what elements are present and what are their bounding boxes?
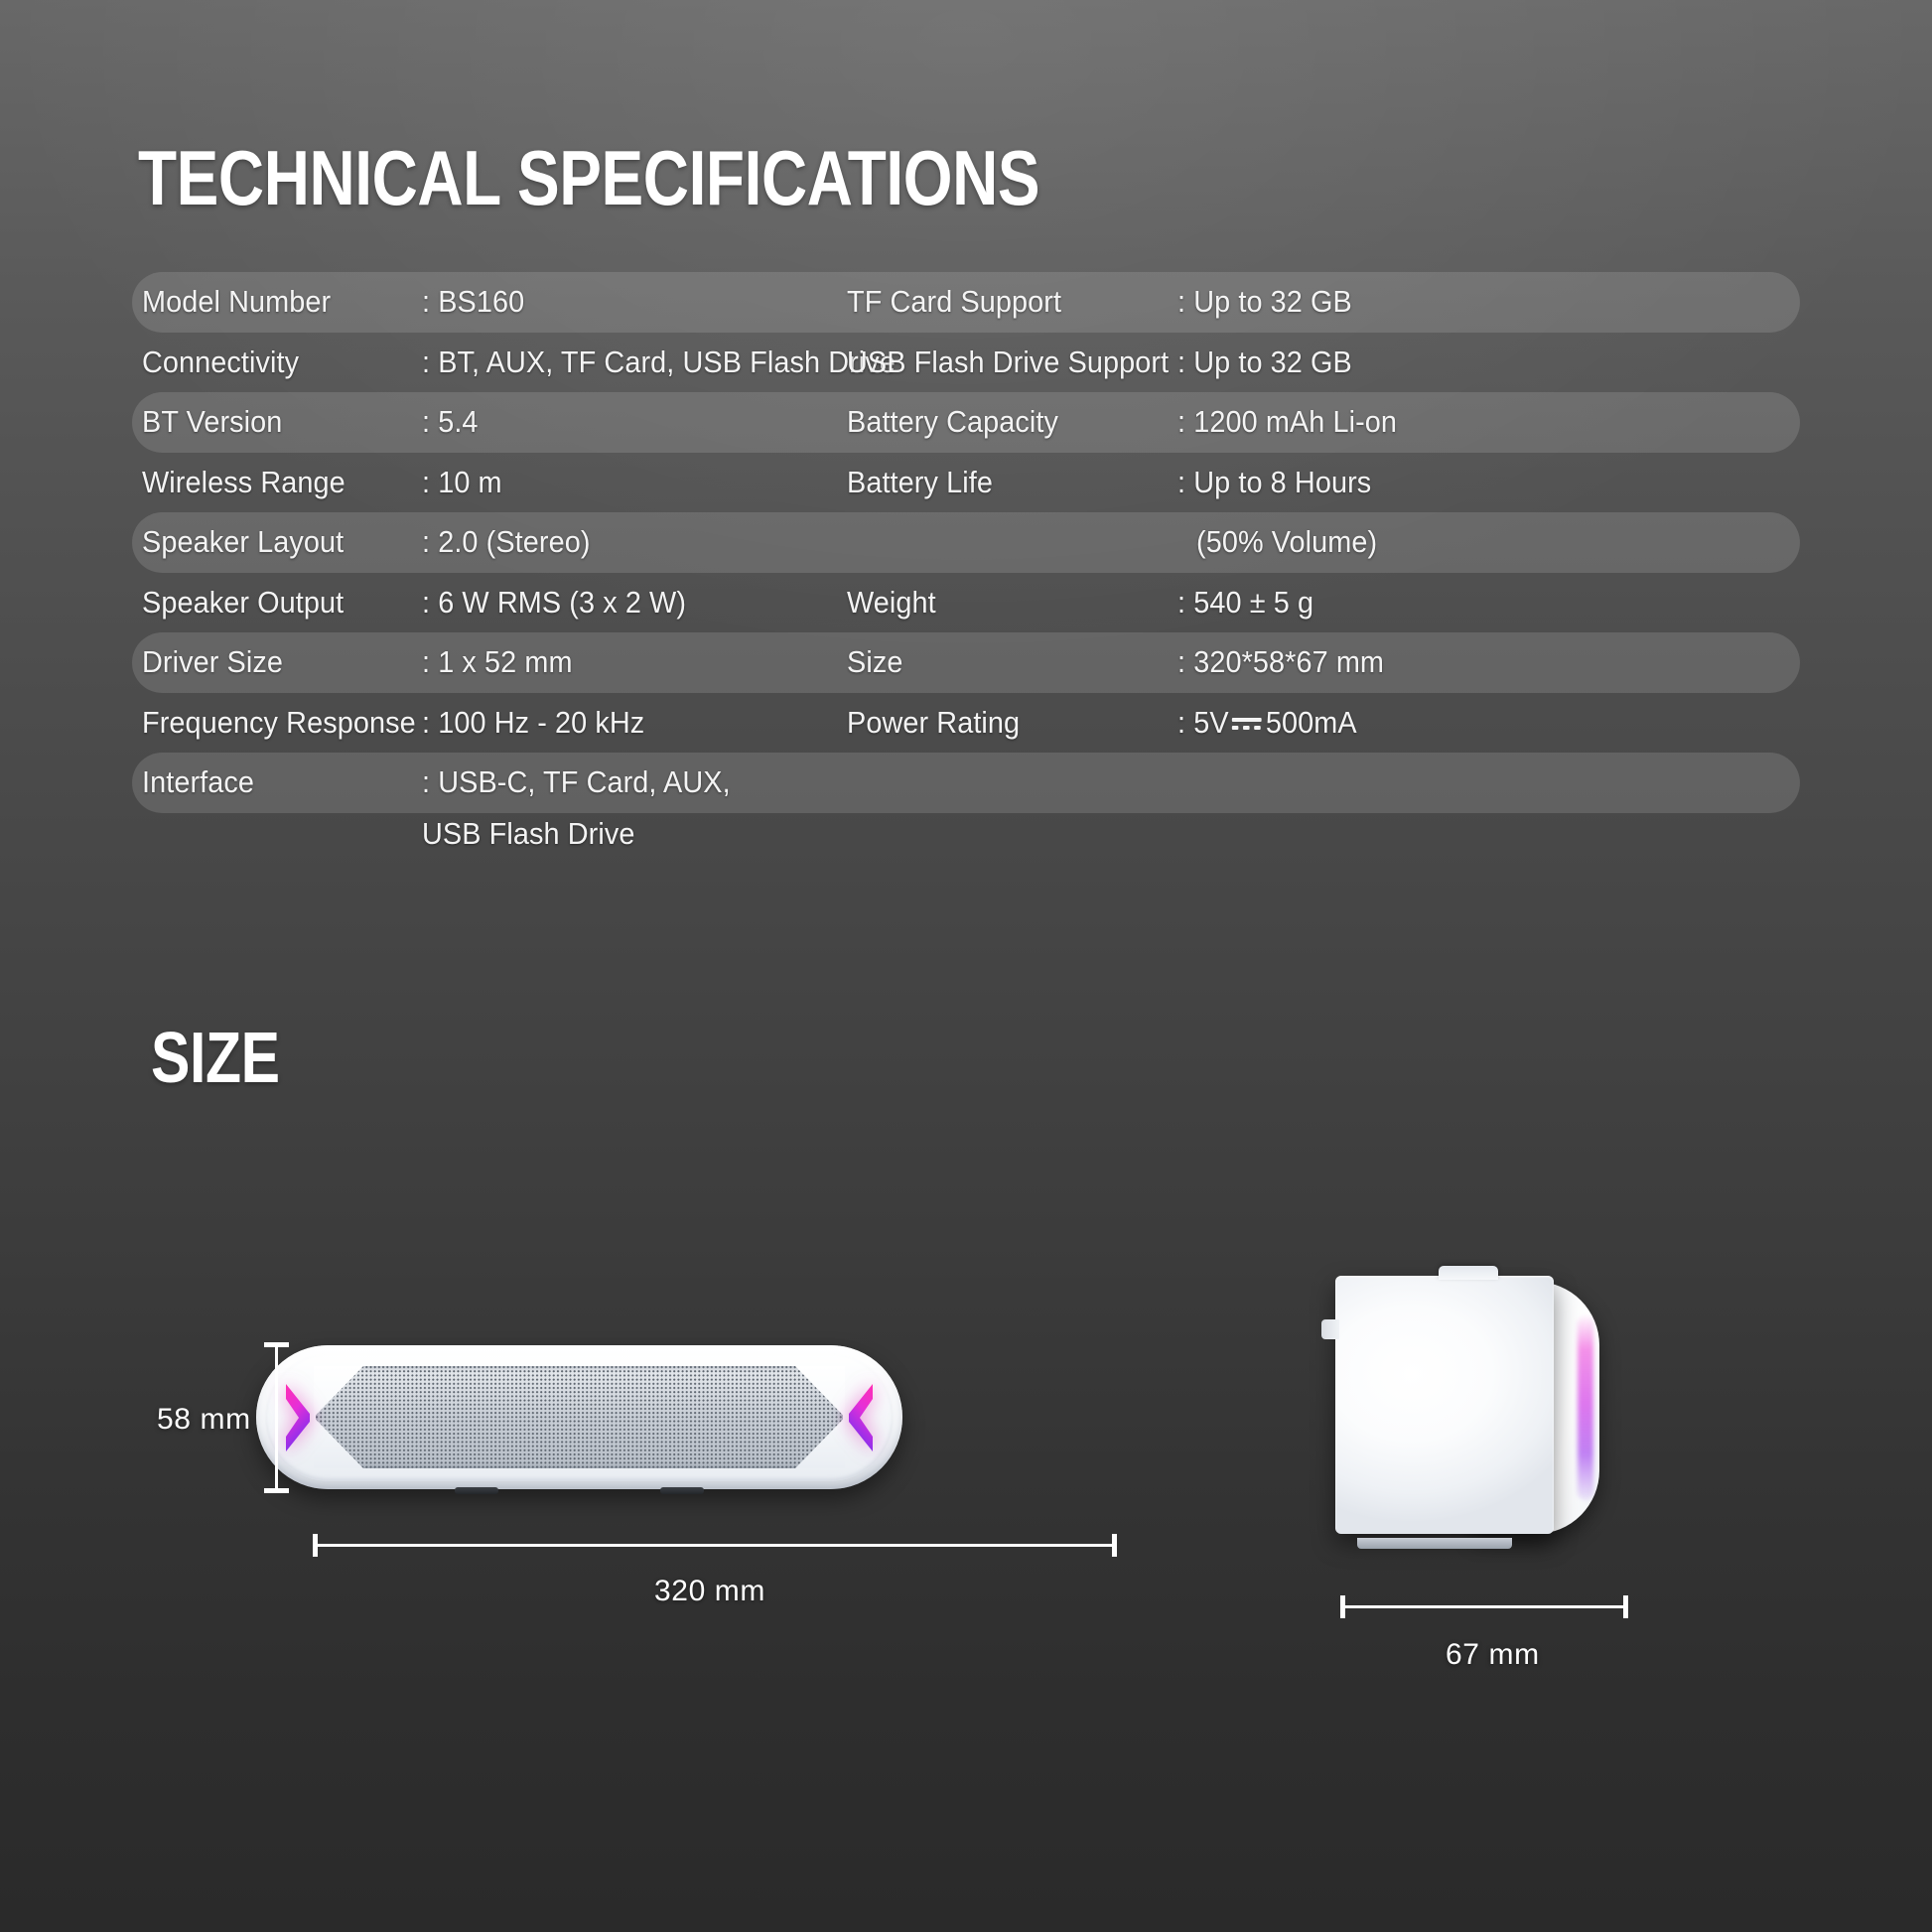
dc-symbol-icon — [1231, 714, 1263, 734]
spec-value-right: : 1200 mAh Li-on — [1177, 392, 1397, 453]
speaker-foot-right — [660, 1487, 704, 1494]
spec-label-right: USB Flash Drive Support — [847, 333, 1169, 393]
dimension-line-width — [313, 1544, 1117, 1547]
spec-label-left: Speaker Layout — [142, 512, 344, 573]
speaker-foot-left — [455, 1487, 498, 1494]
speaker-side-view-image — [1335, 1276, 1607, 1540]
dimension-cap-depth-left — [1340, 1595, 1345, 1618]
spec-value-left: : BS160 — [422, 272, 524, 333]
spec-value-continuation: USB Flash Drive — [422, 804, 634, 864]
table-row: Wireless Range : 10 m Battery Life : Up … — [132, 453, 1800, 513]
dimension-cap-height-bottom — [264, 1488, 289, 1493]
dimension-line-depth — [1340, 1605, 1628, 1608]
speaker-side-top-tab — [1439, 1266, 1498, 1280]
size-section-title: SIZE — [151, 1021, 280, 1096]
spec-value-left: : 2.0 (Stereo) — [422, 512, 591, 573]
spec-value-left: : BT, AUX, TF Card, USB Flash Drive — [422, 333, 896, 393]
table-row: Driver Size : 1 x 52 mm Size : 320*58*67… — [132, 632, 1800, 693]
speaker-side-front-face — [1335, 1276, 1554, 1534]
product-spec-sheet: TECHNICAL SPECIFICATIONS Model Number : … — [0, 0, 1932, 1932]
speaker-side-foot — [1357, 1538, 1512, 1549]
dimension-label-height: 58 mm — [157, 1403, 251, 1437]
power-rating-suffix: 500mA — [1266, 705, 1357, 740]
spec-value-right: : Up to 32 GB — [1177, 333, 1352, 393]
speaker-front-view-image — [256, 1345, 902, 1489]
table-row: Speaker Output : 6 W RMS (3 x 2 W) Weigh… — [132, 573, 1800, 633]
spec-value-left: : 5.4 — [422, 392, 479, 453]
rgb-chevron-light-right-icon — [843, 1381, 879, 1454]
spec-value-left: : 10 m — [422, 453, 502, 513]
spec-value-right: (50% Volume) — [1196, 512, 1377, 573]
spec-label-right: Weight — [847, 573, 936, 633]
dimension-cap-height-top — [264, 1342, 289, 1347]
dimension-line-height — [275, 1342, 278, 1493]
table-row: Model Number : BS160 TF Card Support : U… — [132, 272, 1800, 333]
dimension-cap-width-left — [313, 1534, 318, 1557]
spec-value-right: : Up to 32 GB — [1177, 272, 1352, 333]
spec-label-left: BT Version — [142, 392, 282, 453]
spec-value-left: : 6 W RMS (3 x 2 W) — [422, 573, 686, 633]
spec-value-right: : 320*58*67 mm — [1177, 632, 1384, 693]
spec-value-right: : Up to 8 Hours — [1177, 453, 1371, 513]
speaker-grille — [316, 1366, 843, 1468]
table-row: BT Version : 5.4 Battery Capacity : 1200… — [132, 392, 1800, 453]
spec-label-right: Power Rating — [847, 693, 1020, 754]
page-title: TECHNICAL SPECIFICATIONS — [138, 137, 1039, 218]
power-rating-prefix: : 5V — [1177, 705, 1229, 740]
spec-label-left: Frequency Response — [142, 693, 416, 754]
spec-label-left: Speaker Output — [142, 573, 344, 633]
spec-label-left: Model Number — [142, 272, 331, 333]
spec-label-right: Battery Capacity — [847, 392, 1058, 453]
spec-label-right: Battery Life — [847, 453, 993, 513]
table-row: Frequency Response : 100 Hz - 20 kHz Pow… — [132, 693, 1800, 754]
table-row: Speaker Layout : 2.0 (Stereo) (50% Volum… — [132, 512, 1800, 573]
spec-label-left: Driver Size — [142, 632, 283, 693]
spec-label-left: Connectivity — [142, 333, 299, 393]
spec-value-right: : 540 ± 5 g — [1177, 573, 1313, 633]
spec-label-right: TF Card Support — [847, 272, 1061, 333]
table-row: Connectivity : BT, AUX, TF Card, USB Fla… — [132, 333, 1800, 393]
rgb-side-glow-light — [1578, 1315, 1593, 1500]
spec-label-left: Wireless Range — [142, 453, 345, 513]
table-row-continuation: USB Flash Drive — [132, 804, 1800, 864]
rgb-chevron-light-left-icon — [280, 1381, 316, 1454]
spec-value-left: : 1 x 52 mm — [422, 632, 573, 693]
dimension-label-width: 320 mm — [654, 1575, 765, 1608]
spec-value-left: : 100 Hz - 20 kHz — [422, 693, 644, 754]
dimension-cap-depth-right — [1623, 1595, 1628, 1618]
dimension-label-depth: 67 mm — [1446, 1638, 1540, 1672]
speaker-side-port-tab — [1321, 1319, 1339, 1339]
spec-value-right-power: : 5V500mA — [1177, 693, 1357, 754]
spec-label-right: Size — [847, 632, 902, 693]
dimension-cap-width-right — [1112, 1534, 1117, 1557]
specifications-table: Model Number : BS160 TF Card Support : U… — [132, 272, 1800, 813]
